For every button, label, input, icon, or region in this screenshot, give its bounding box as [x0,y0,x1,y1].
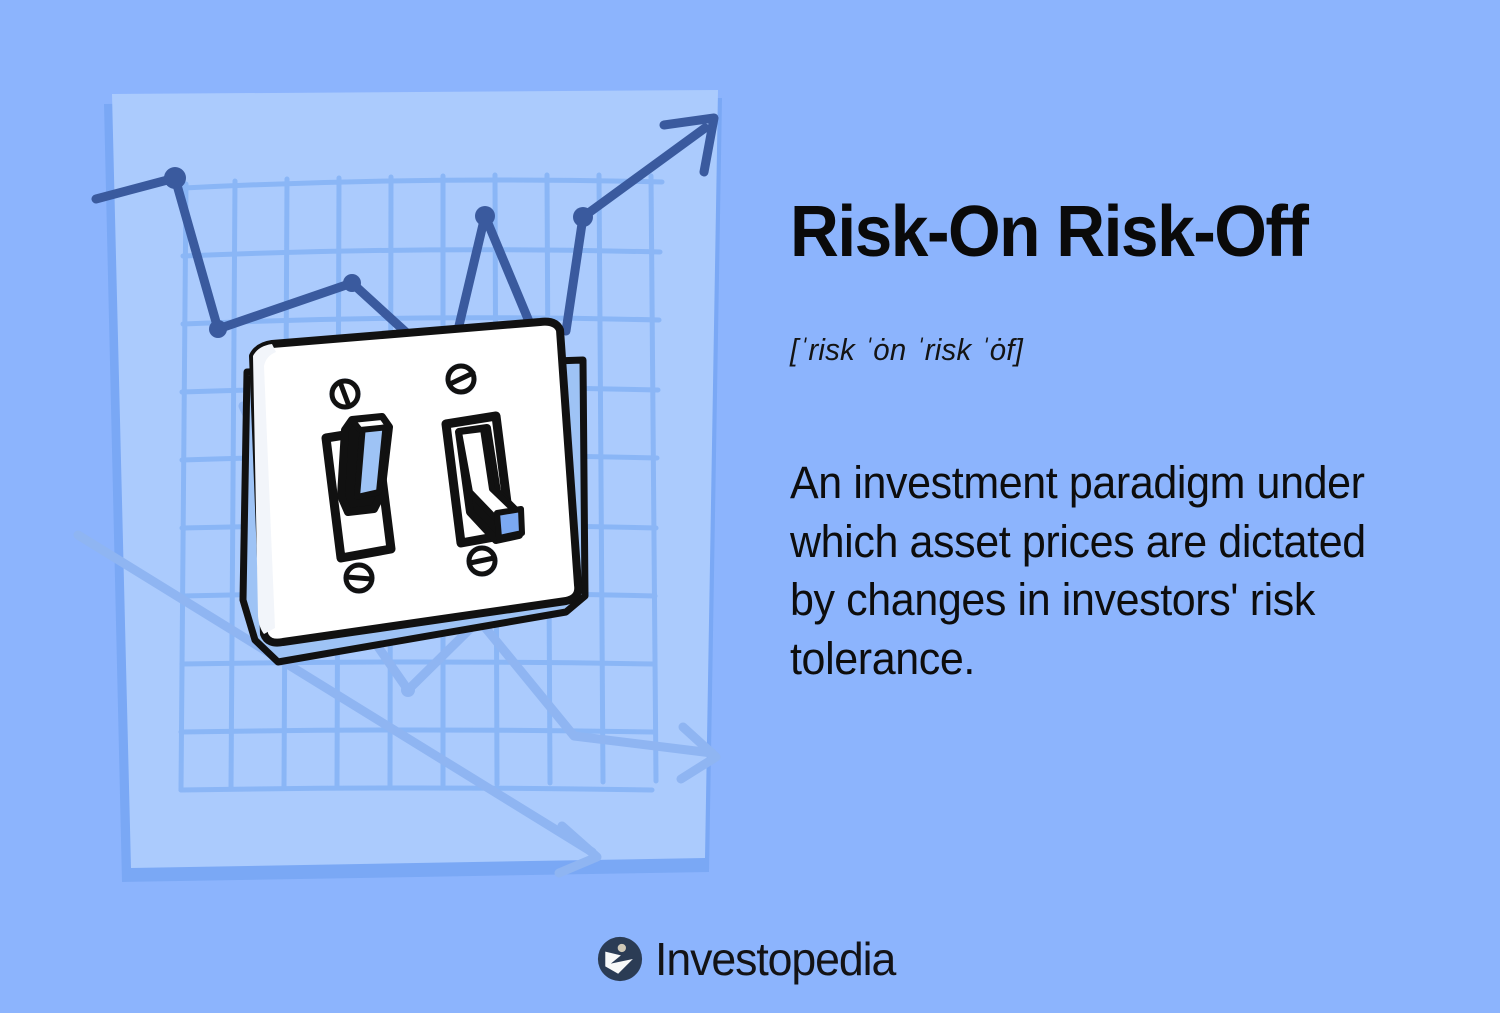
light-switch-plate [243,322,585,662]
right-switch-toggle-cap [497,509,522,538]
left-switch-toggle-face [357,422,386,497]
plate-front-face [253,322,578,643]
screw-bottom-left [343,562,375,594]
screw-bottom-right [466,545,498,577]
investopedia-wordmark: Investopedia [655,936,895,982]
pronunciation-text: [ˈrisk ˈȯn ˈrisk ˈȯf] [790,268,1417,368]
term-text-column: Risk-On Risk-Off [ˈrisk ˈȯn ˈrisk ˈȯf] A… [790,196,1450,688]
left-switch-toggle-cap [352,417,389,430]
investopedia-logo-icon [597,936,643,982]
brand-footer: Investopedia [0,936,1500,982]
left-switch[interactable] [326,417,391,558]
screw-top-left [329,378,361,410]
screw-top-right [445,363,477,395]
definition-card: Risk-On Risk-Off [ˈrisk ˈȯn ˈrisk ˈȯf] A… [0,0,1500,1013]
page-title: Risk-On Risk-Off [790,196,1410,268]
illustration-svg [0,0,770,920]
definition-text: An investment paradigm under which asset… [790,368,1420,688]
illustration-graph-lightswitch [0,0,770,920]
